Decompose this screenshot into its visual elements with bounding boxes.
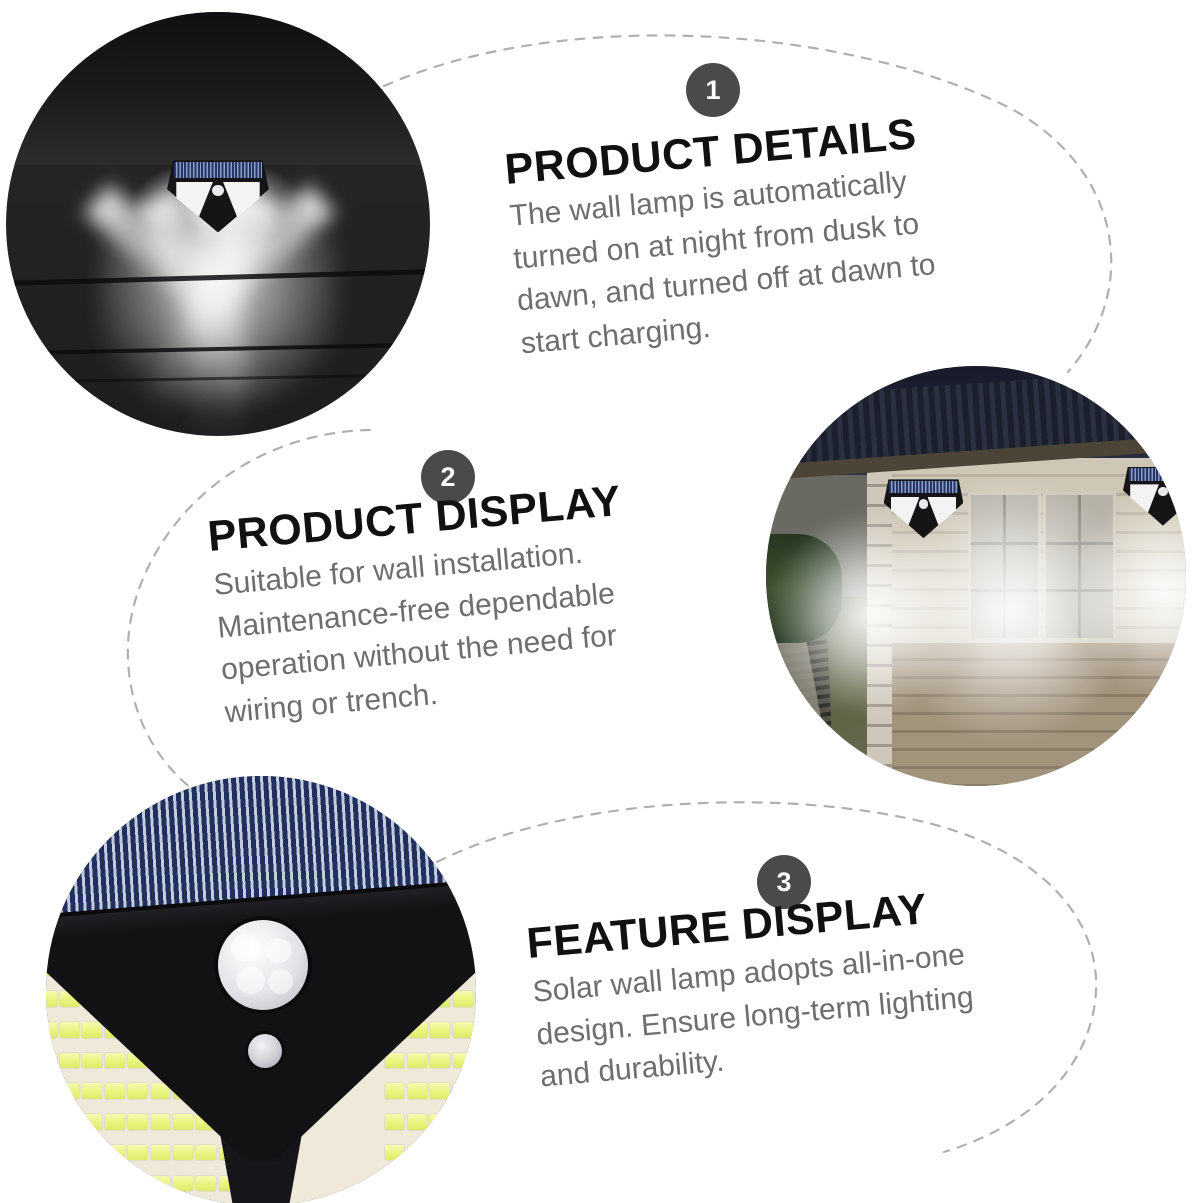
led-chip bbox=[453, 1145, 473, 1161]
led-chip bbox=[408, 1145, 428, 1161]
led-chip bbox=[173, 1176, 193, 1192]
led-chip bbox=[82, 1114, 102, 1130]
solar-lamp-unit bbox=[884, 479, 964, 538]
led-chip bbox=[128, 1176, 148, 1192]
led-chip bbox=[46, 991, 57, 1007]
motion-sensor bbox=[919, 499, 929, 508]
led-chip bbox=[82, 1053, 102, 1069]
solar-panel bbox=[1129, 468, 1186, 481]
led-chip bbox=[430, 1083, 450, 1099]
led-chip bbox=[453, 1176, 473, 1192]
led-chip bbox=[196, 1145, 216, 1161]
led-chip bbox=[385, 1083, 405, 1099]
led-chip bbox=[60, 1145, 80, 1161]
led-chip bbox=[128, 1083, 148, 1099]
led-chip bbox=[105, 1176, 125, 1192]
led-chip bbox=[385, 1145, 405, 1161]
photo-feature-display-closeup bbox=[46, 776, 476, 1203]
led-chip bbox=[196, 1176, 216, 1192]
led-chip bbox=[60, 1083, 80, 1099]
led-chip bbox=[385, 1114, 405, 1130]
solar-lamp-unit bbox=[1123, 467, 1186, 526]
led-chip bbox=[82, 1145, 102, 1161]
led-chip bbox=[46, 1053, 57, 1069]
led-chip bbox=[46, 1176, 57, 1192]
led-chip bbox=[453, 1022, 473, 1038]
solar-panel bbox=[174, 162, 262, 178]
led-chip bbox=[82, 1176, 102, 1192]
led-chip bbox=[105, 1145, 125, 1161]
led-chip bbox=[453, 1083, 473, 1099]
led-chip bbox=[105, 1083, 125, 1099]
led-chip bbox=[128, 1145, 148, 1161]
led-chip bbox=[151, 1176, 171, 1192]
motion-sensor bbox=[218, 920, 308, 1010]
led-chip bbox=[151, 1114, 171, 1130]
led-chip bbox=[385, 1176, 405, 1192]
led-chip bbox=[173, 1114, 193, 1130]
led-chip bbox=[46, 1145, 57, 1161]
led-chip bbox=[46, 1083, 57, 1099]
led-chip bbox=[430, 1176, 450, 1192]
led-chip bbox=[430, 1053, 450, 1069]
infographic-canvas: 1 PRODUCT DETAILS The wall lamp is autom… bbox=[0, 0, 1197, 1203]
photo-product-display-cabin bbox=[766, 366, 1186, 786]
photo-product-details-night-wall bbox=[6, 12, 430, 436]
led-chip bbox=[241, 1176, 261, 1192]
led-chip bbox=[430, 1022, 450, 1038]
led-chip bbox=[105, 1114, 125, 1130]
led-chip bbox=[105, 1053, 125, 1069]
led-chip bbox=[173, 1145, 193, 1161]
led-chip bbox=[60, 1114, 80, 1130]
led-chip bbox=[46, 1114, 57, 1130]
led-chip bbox=[430, 1145, 450, 1161]
led-chip bbox=[60, 1176, 80, 1192]
led-chip bbox=[128, 1114, 148, 1130]
led-chip bbox=[408, 1176, 428, 1192]
solar-panel bbox=[889, 481, 958, 494]
led-chip bbox=[219, 1176, 239, 1192]
led-chip bbox=[408, 1053, 428, 1069]
led-chip bbox=[151, 1145, 171, 1161]
led-chip bbox=[60, 1053, 80, 1069]
ceiling-surface bbox=[6, 12, 430, 165]
led-chip bbox=[453, 1053, 473, 1069]
led-chip bbox=[82, 1083, 102, 1099]
led-chip bbox=[453, 991, 473, 1007]
led-chip bbox=[453, 1114, 473, 1130]
motion-sensor bbox=[1158, 487, 1168, 496]
led-chip bbox=[408, 1083, 428, 1099]
led-chip bbox=[46, 1022, 57, 1038]
led-chip bbox=[408, 1114, 428, 1130]
step-badge-1: 1 bbox=[686, 63, 740, 117]
led-chip bbox=[430, 1114, 450, 1130]
solar-lamp-unit bbox=[167, 160, 269, 232]
led-chip bbox=[264, 1176, 284, 1192]
led-chip bbox=[82, 1022, 102, 1038]
led-chip bbox=[60, 1022, 80, 1038]
